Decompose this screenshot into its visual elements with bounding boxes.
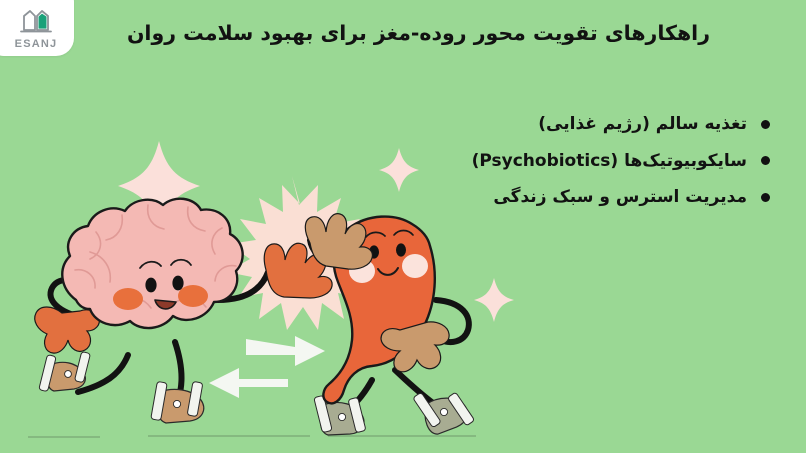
brain-brow-right [171,260,191,265]
illustration-gut-brain-axis [0,0,806,453]
bullet-dot-icon [761,120,770,129]
bullet-label: سایکوبیوتیک‌ها (Psychobiotics) [472,149,747,174]
brain-hand-left [35,307,100,353]
bullet-dot-icon [761,156,770,165]
stomach-hand-right [381,322,449,372]
strategy-bullet-list: تغذیه سالم (رژیم غذایی) سایکوبیوتیک‌ها (… [250,112,770,222]
stomach-eye-left [369,245,379,258]
brain-shoe-left [39,351,91,391]
brain-folds [75,205,236,308]
brain-character [35,199,332,423]
list-item: سایکوبیوتیک‌ها (Psychobiotics) [250,149,770,174]
ground-lines [28,436,476,437]
brain-mouth [155,300,176,309]
stomach-eye-right [396,243,406,256]
stomach-shoe-right [413,392,475,437]
brain-hand-right [264,243,332,298]
brain-brow-left [140,262,161,268]
stomach-cheek-left [349,259,375,283]
brain-eye-right [172,276,183,291]
sparkle-star [474,278,514,322]
page-title: راهکارهای تقویت محور روده-مغز برای بهبود… [50,18,710,49]
brain-eye-left [145,278,156,293]
bullet-label: مدیریت استرس و سبک زندگی [493,185,747,210]
list-item: تغذیه سالم (رژیم غذایی) [250,112,770,137]
stomach-shoe-left [314,395,366,435]
bullet-dot-icon [761,193,770,202]
brain-shoe-right [151,381,204,423]
brain-cheek-left [113,288,143,310]
bullet-label: تغذیه سالم (رژیم غذایی) [538,112,747,137]
slide-canvas: ESANJ راهکارهای تقویت محور روده-مغز برای… [0,0,806,453]
stomach-brow-right [394,231,413,236]
stomach-cheek-right [402,254,428,278]
stomach-hand-left [305,214,372,269]
brain-cheek-right [178,285,208,307]
exchange-arrows [209,336,325,398]
stomach-mouth [378,268,398,275]
stomach-brow-left [366,232,385,237]
stomach-character [305,214,474,437]
list-item: مدیریت استرس و سبک زندگی [250,185,770,210]
sparkle-star [118,141,200,232]
